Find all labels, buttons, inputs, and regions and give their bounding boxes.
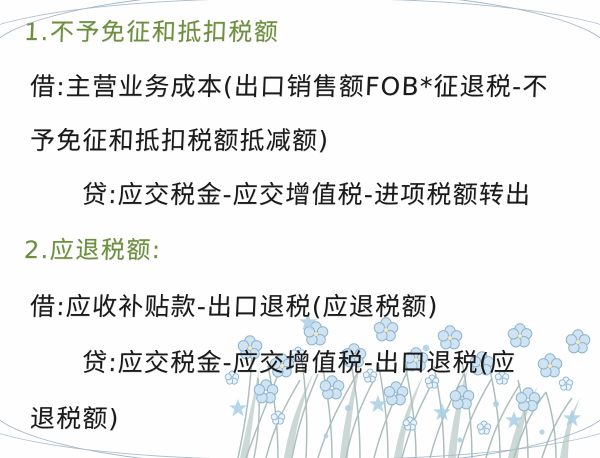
note-line-entry-2-credit-cont: 退税额) — [29, 406, 120, 431]
note-page: 1.不予免征和抵扣税额 借:主营业务成本(出口销售额FOB*征退税-不 予免征和… — [0, 0, 600, 458]
note-line-entry-2-debit: 借:应收补贴款-出口退税(应退税额) — [29, 294, 439, 319]
note-line-entry-1-credit: 贷:应交税金-应交增值税-进项税额转出 — [81, 182, 531, 207]
note-line-heading-1: 1.不予免征和抵扣税额 — [23, 20, 279, 44]
note-line-entry-2-credit: 贷:应交税金-应交增值税-出口退税(应 — [81, 350, 516, 375]
note-text-layer: 1.不予免征和抵扣税额 借:主营业务成本(出口销售额FOB*征退税-不 予免征和… — [0, 0, 600, 458]
note-line-heading-2: 2.应退税额: — [23, 238, 162, 262]
note-line-entry-1-debit-cont: 予免征和抵扣税额抵减额) — [29, 128, 329, 153]
note-line-entry-1-debit: 借:主营业务成本(出口销售额FOB*征退税-不 — [29, 74, 549, 99]
